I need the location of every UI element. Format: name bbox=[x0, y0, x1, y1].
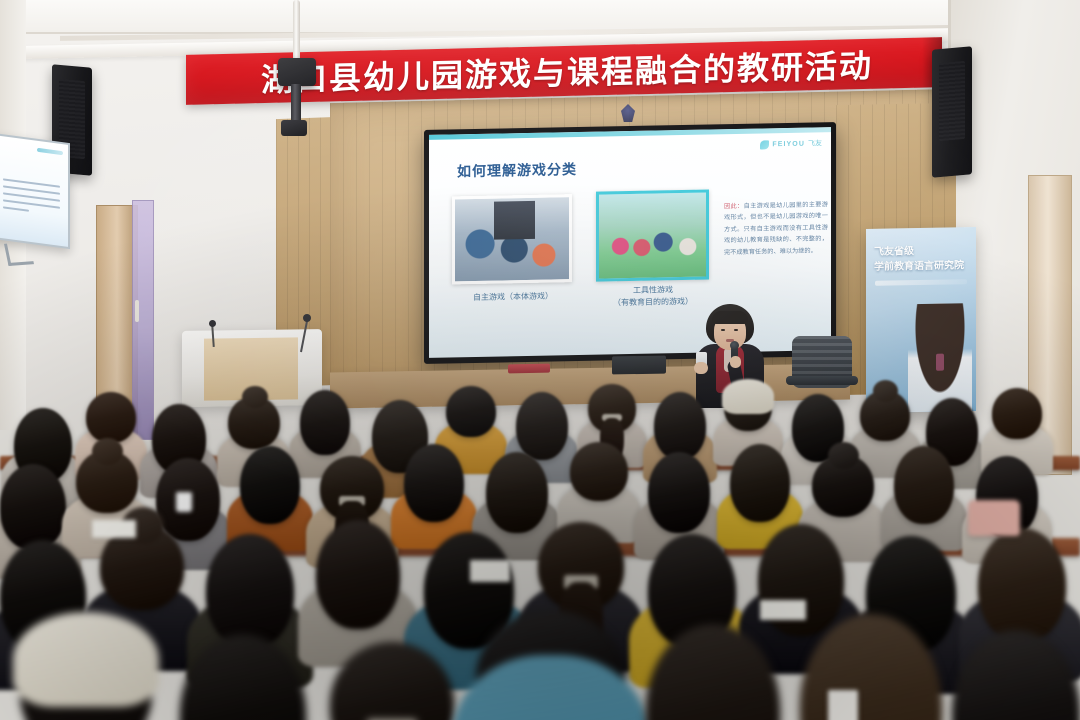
audience-member-head bbox=[992, 388, 1042, 439]
cup-object bbox=[176, 492, 192, 512]
audience-member bbox=[404, 444, 464, 537]
slide-photo-right bbox=[596, 189, 709, 281]
audience-member bbox=[800, 614, 942, 720]
slide-logo-text-cn: 飞友 bbox=[808, 138, 822, 148]
presenter-eye-right bbox=[734, 329, 738, 331]
audience-member-head bbox=[800, 614, 942, 720]
slide-title: 如何理解游戏分类 bbox=[457, 159, 577, 181]
audience-member-head bbox=[300, 390, 350, 455]
microphone-head-icon bbox=[730, 341, 739, 350]
paper-object bbox=[92, 520, 136, 538]
podium-microphone-icon bbox=[303, 314, 311, 322]
audience-member-hair-bun bbox=[242, 386, 268, 409]
projection-screen: FEIYOU 飞友 如何理解游戏分类 自主游戏（本体游戏） 工具性游戏 （有教育… bbox=[424, 122, 836, 364]
slide-logo-text: FEIYOU bbox=[772, 140, 805, 148]
presenter-eye-left bbox=[721, 329, 725, 331]
audience-member-head bbox=[978, 528, 1066, 642]
ceiling-speaker-right bbox=[932, 46, 972, 177]
leaf-icon bbox=[760, 140, 769, 149]
audience-member-head bbox=[316, 520, 400, 629]
slide-content: FEIYOU 飞友 如何理解游戏分类 自主游戏（本体游戏） 工具性游戏 （有教育… bbox=[429, 127, 831, 358]
projector-icon bbox=[278, 58, 316, 86]
audience-member bbox=[646, 624, 780, 720]
audience-member bbox=[476, 610, 626, 720]
slide-paragraph-label: 因此： bbox=[724, 203, 744, 210]
rollup-subtitle-bar bbox=[875, 279, 967, 286]
audience-member-cap-icon bbox=[13, 612, 158, 707]
cup-object bbox=[828, 690, 858, 720]
audience-member-head bbox=[730, 444, 790, 522]
audience-member-hair-bun bbox=[873, 380, 898, 402]
presenter-fringe bbox=[712, 311, 748, 324]
lecture-hall-photo: 湖口县幼儿园游戏与课程融合的教研活动 FEIYOU 飞友 如何理解 bbox=[0, 0, 1080, 720]
paper-object bbox=[470, 560, 510, 582]
audience-member bbox=[894, 446, 954, 539]
door-handle-icon[interactable] bbox=[135, 300, 139, 322]
audience-member bbox=[180, 634, 306, 720]
audience-member-head bbox=[86, 392, 136, 443]
slide-accent-bar bbox=[429, 127, 831, 140]
audience-member bbox=[316, 520, 400, 650]
podium-microphone-2-icon bbox=[209, 320, 216, 327]
camera-icon bbox=[281, 120, 307, 136]
audience-member-head bbox=[648, 452, 710, 533]
audience-member-head bbox=[654, 392, 706, 460]
audience-member-cap-icon bbox=[722, 379, 775, 414]
audience-member-head bbox=[894, 446, 954, 524]
audience-member-hair-bun bbox=[828, 442, 859, 469]
audience-member-head bbox=[0, 464, 66, 550]
audience-member-head bbox=[330, 642, 454, 720]
side-monitor-text-lines bbox=[3, 178, 60, 221]
audience-member-head bbox=[952, 630, 1080, 720]
slide-photo-left bbox=[452, 194, 572, 284]
slide-paragraph: 因此：自主游戏是幼儿园里的主要游戏形式，但也不是幼儿园游戏的唯一方式。只有自主游… bbox=[724, 199, 828, 258]
monitor-arm bbox=[4, 242, 34, 266]
audience-member-head bbox=[570, 442, 628, 501]
audience-member bbox=[992, 388, 1042, 466]
audience-member-head bbox=[404, 444, 464, 522]
audience-member-head bbox=[516, 392, 568, 460]
audience-member-head bbox=[446, 386, 496, 437]
slide-brand-logo: FEIYOU 飞友 bbox=[760, 138, 822, 149]
side-monitor-logo-icon bbox=[37, 148, 63, 155]
audience-member-head bbox=[240, 446, 300, 524]
audience-member bbox=[240, 446, 300, 539]
audience-member-head bbox=[206, 534, 294, 648]
audience bbox=[0, 352, 1080, 720]
rollup-banner-text: 飞友省级 学前教育语言研究院 bbox=[874, 243, 968, 275]
rollup-line-2: 学前教育语言研究院 bbox=[874, 258, 968, 275]
audience-member-head bbox=[646, 624, 780, 720]
audience-member bbox=[20, 620, 152, 720]
rollup-line-1: 飞友省级 bbox=[874, 243, 968, 260]
audience-member bbox=[952, 630, 1080, 720]
handbag-object bbox=[968, 500, 1020, 536]
audience-member-hair-bun bbox=[92, 438, 123, 465]
audience-member-head bbox=[180, 634, 306, 720]
side-monitor bbox=[0, 133, 70, 249]
audience-member bbox=[330, 642, 454, 720]
paper-object bbox=[760, 600, 806, 620]
audience-member-head bbox=[486, 452, 548, 533]
slide-caption-left: 自主游戏（本体游戏） bbox=[443, 290, 583, 304]
audience-member bbox=[570, 442, 628, 532]
